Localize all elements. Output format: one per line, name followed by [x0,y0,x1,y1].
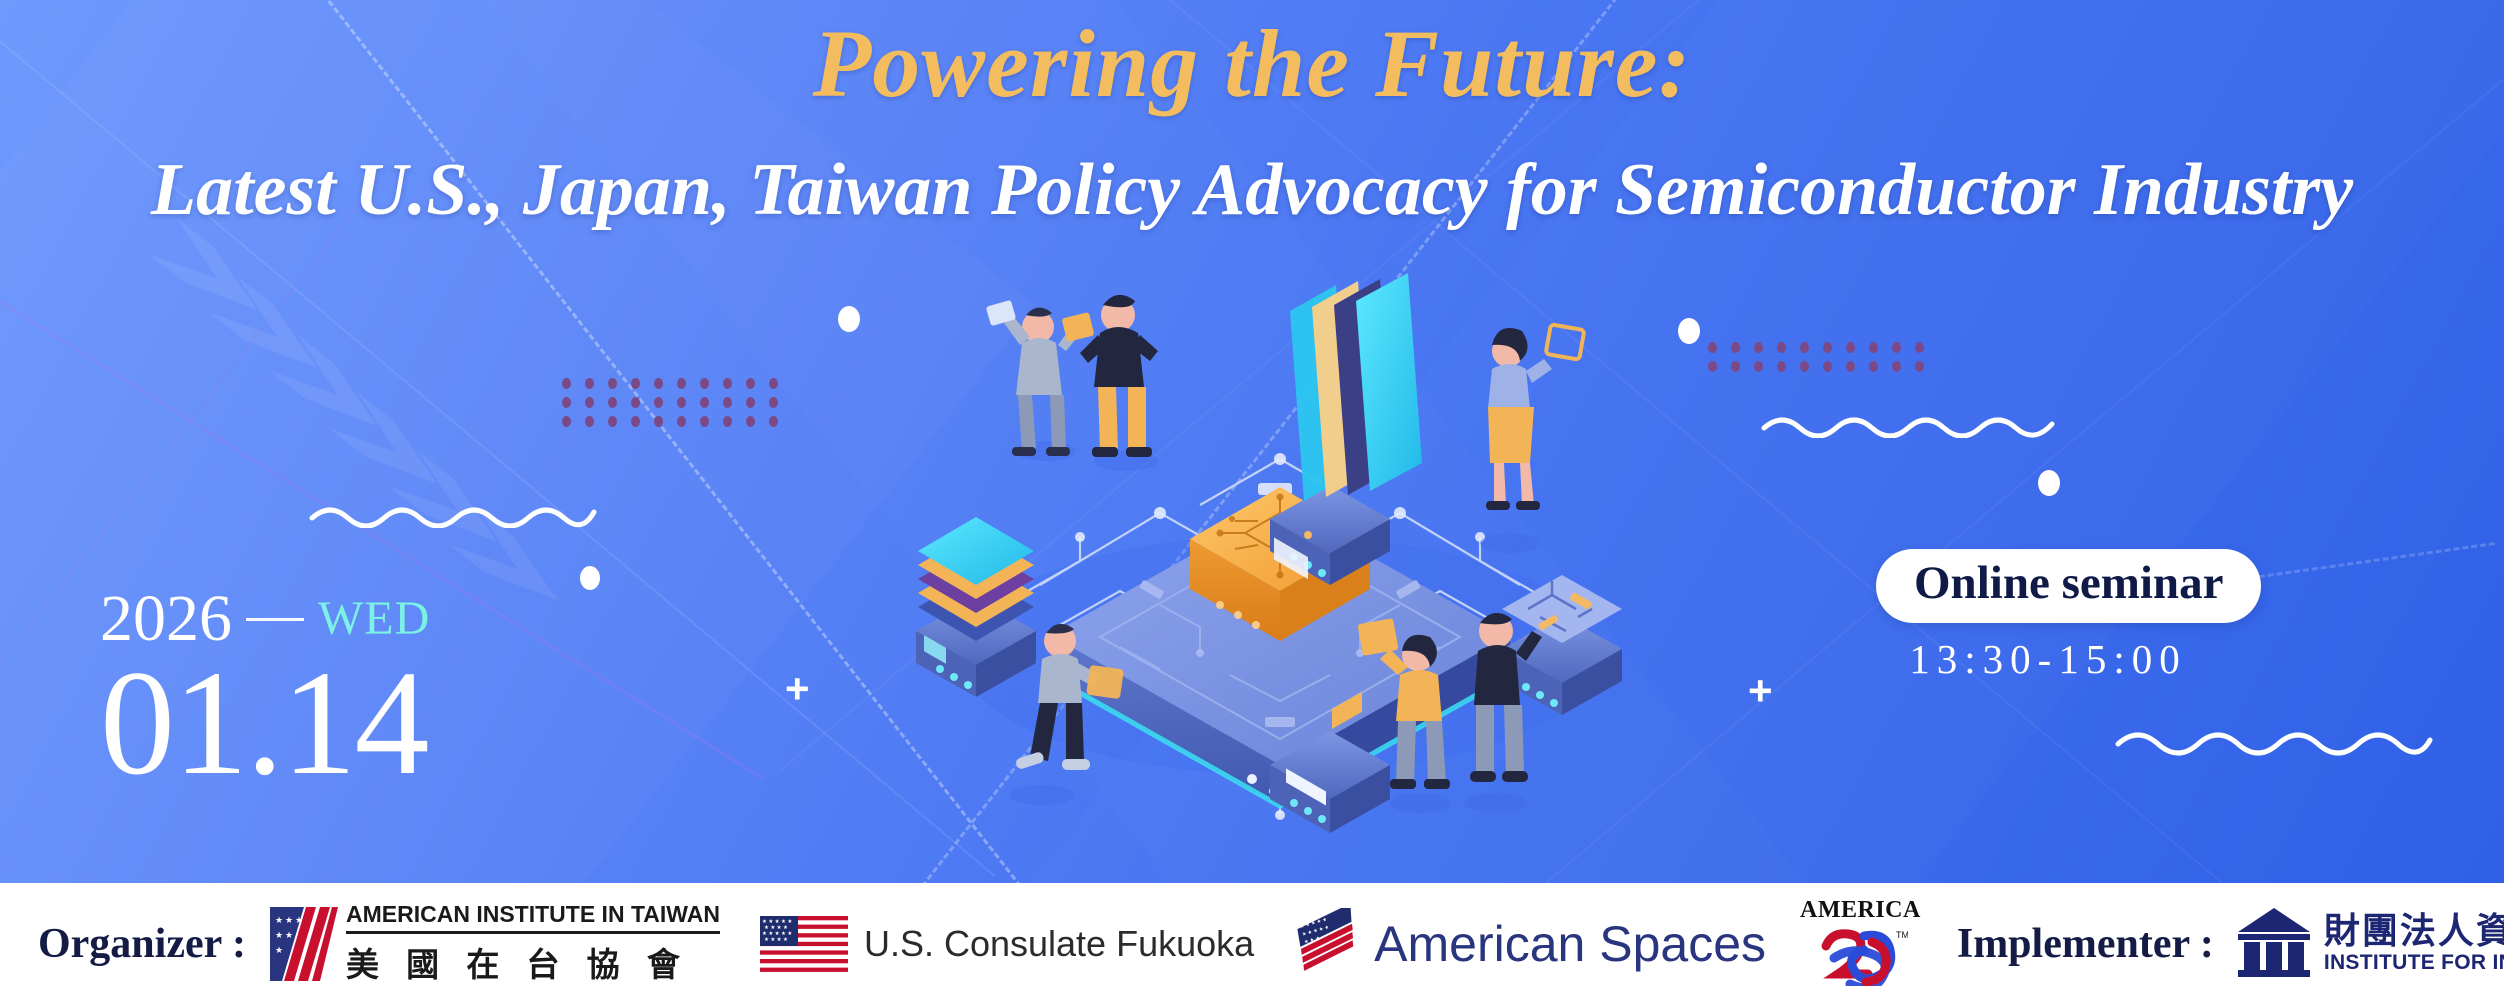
banner-title: Powering the Future: [0,8,2504,119]
iii-chinese-name: 財團法人資訊工業策進會 [2324,912,2504,950]
date-dash [246,618,304,621]
dot-circle-4 [580,566,600,590]
ait-logo: ★★★ ★★ ★ AMERICAN INSTITUTE IN TAIWAN 美 … [270,901,720,986]
event-day: 01.14 [100,648,430,798]
event-time-range: 13:30-15:00 [1876,635,2220,683]
online-seminar-label: Online seminar [1914,557,2223,609]
online-seminar-badge: Online seminar [1876,549,2261,623]
svg-text:★ ★ ★ ★: ★ ★ ★ ★ [764,937,788,943]
dot-circle-3 [2038,470,2060,496]
dot-circle-1 [838,306,860,332]
us-flag-icon: ★ ★ ★ ★ ★ ★ ★ ★ ★ ★ ★ ★ ★ ★ ★ ★ ★ ★ [760,916,848,972]
america-250-number-icon: TM [1812,924,1908,991]
ait-text-block: AMERICAN INSTITUTE IN TAIWAN 美 國 在 台 協 會 [346,901,720,986]
svg-text:★: ★ [285,915,293,925]
ait-flag-icon: ★★★ ★★ ★ [270,907,338,981]
isometric-illustration [860,255,1700,875]
ait-english-name: AMERICAN INSTITUTE IN TAIWAN [346,901,720,934]
organizer-label: Organizer : [38,920,246,968]
svg-text:★: ★ [275,945,283,955]
iii-text-block: 財團法人資訊工業策進會 INSTITUTE FOR INFORMATION IN… [2324,912,2504,976]
america-250-logo: AMERICA TM [1800,897,1921,991]
event-weekday: WED [318,595,430,643]
us-consulate-name: U.S. Consulate Fukuoka [864,923,1254,965]
hero-section: + + [0,0,2504,883]
svg-text:★: ★ [285,930,293,940]
american-spaces-logo: ★ ★ ★ ★ ★ ★ ★ ★ ★ ★ ★ ★ ★ American Space… [1296,908,1766,979]
wave-line-left [308,498,598,528]
plus-decoration-left: + [785,668,810,710]
us-consulate-fukuoka-logo: ★ ★ ★ ★ ★ ★ ★ ★ ★ ★ ★ ★ ★ ★ ★ ★ ★ ★ U.S.… [760,916,1254,972]
iii-english-name: INSTITUTE FOR INFORMATION INDUSTRY [2324,951,2504,975]
wave-line-right-upper [1760,408,2060,438]
event-date-block: 2026 WED 01.14 [100,586,430,798]
ait-chinese-name: 美 國 在 台 協 會 [346,938,720,986]
american-spaces-name: American Spaces [1374,915,1766,973]
banner-subtitle: Latest U.S., Japan, Taiwan Policy Advoca… [0,148,2504,233]
plus-decoration-right: + [1748,670,1773,712]
american-spaces-flag-icon: ★ ★ ★ ★ ★ ★ ★ ★ ★ ★ ★ ★ ★ [1296,908,1368,979]
seminar-banner: + + [0,0,2504,1004]
wave-line-right-lower [2114,722,2434,756]
america-250-tm: TM [1896,930,1908,940]
iii-logo: 財團法人資訊工業策進會 INSTITUTE FOR INFORMATION IN… [2236,904,2504,983]
iii-temple-icon [2236,904,2312,983]
sponsor-footer: Organizer : ★★★ ★★ ★ AMERICAN [0,883,2504,1004]
america-250-wordmark: AMERICA [1800,897,1921,924]
svg-text:★: ★ [275,915,283,925]
svg-text:★: ★ [275,930,283,940]
implementer-label: Implementer : [1957,920,2214,968]
